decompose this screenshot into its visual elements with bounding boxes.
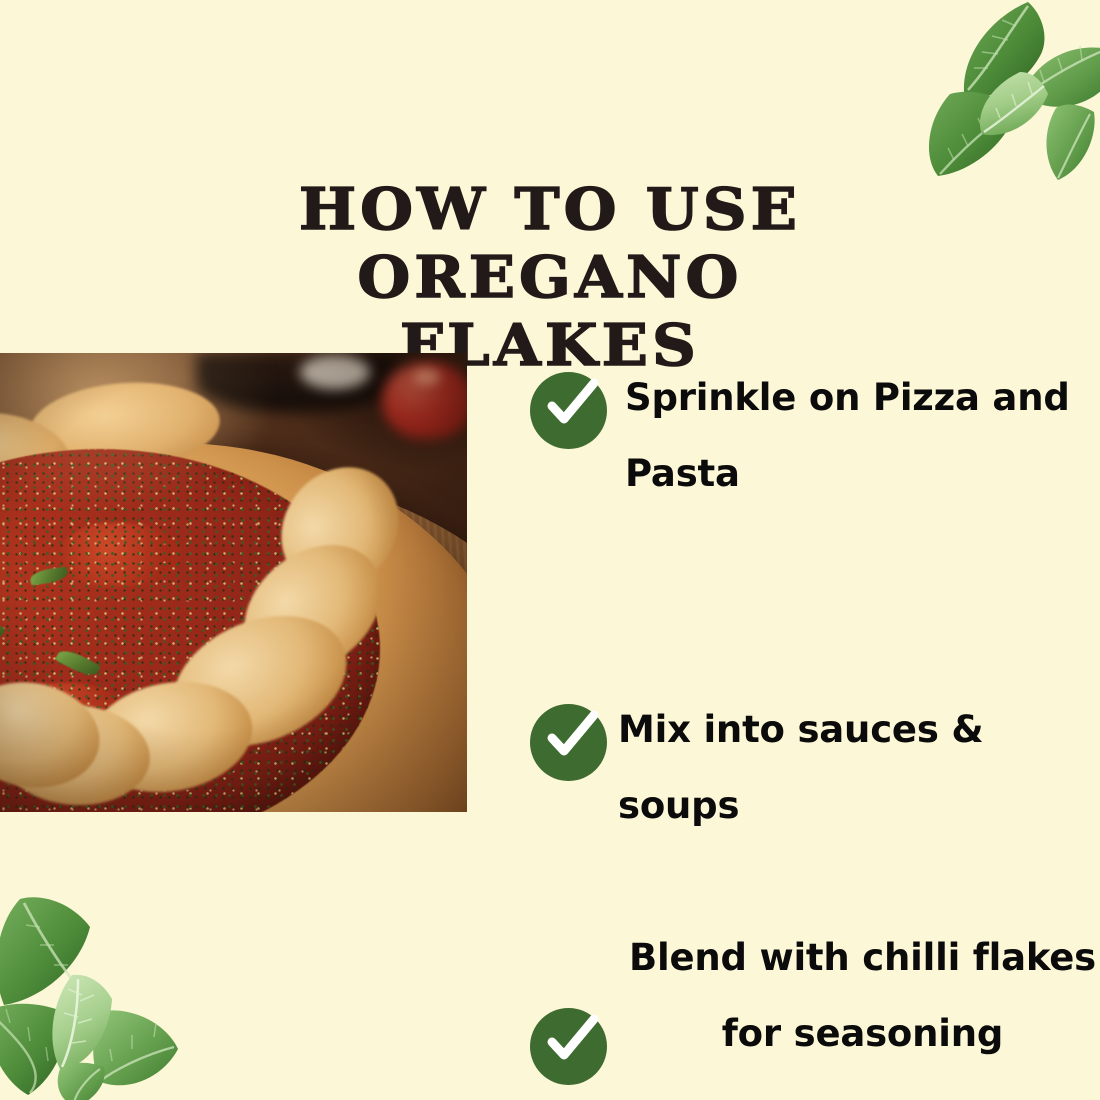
list-item: Blend with chilli flakes for seasoning bbox=[528, 664, 1100, 816]
basil-leaf bbox=[29, 566, 69, 585]
poster-canvas: How to Use Oregano Flakes bbox=[0, 0, 1100, 1100]
list-item-label: Sprinkle on Pizza and Pasta bbox=[625, 360, 1095, 512]
mint-leaves-top-right-icon bbox=[916, 0, 1100, 190]
page-title: How to Use Oregano Flakes bbox=[120, 176, 980, 380]
list-item: Mix into sauces & soups bbox=[528, 512, 1100, 664]
benefits-list: Sprinkle on Pizza and Pasta Mix into sau… bbox=[528, 360, 1100, 816]
check-circle-icon bbox=[530, 1008, 607, 1085]
blurred-bowl-highlight bbox=[300, 355, 370, 389]
tomato-highlight bbox=[414, 369, 440, 385]
basil-leaf bbox=[0, 615, 5, 642]
basil-leaf bbox=[55, 646, 101, 681]
list-item: Sprinkle on Pizza and Pasta bbox=[528, 360, 1100, 512]
pizza-photo bbox=[0, 353, 467, 812]
list-item-label: Blend with chilli flakes for seasoning bbox=[625, 920, 1100, 1072]
check-circle-icon bbox=[530, 372, 607, 449]
blurred-bowl bbox=[196, 353, 396, 413]
mint-leaves-bottom-left-icon bbox=[0, 883, 191, 1100]
title-line-1: How to Use Oregano bbox=[94, 176, 1006, 312]
